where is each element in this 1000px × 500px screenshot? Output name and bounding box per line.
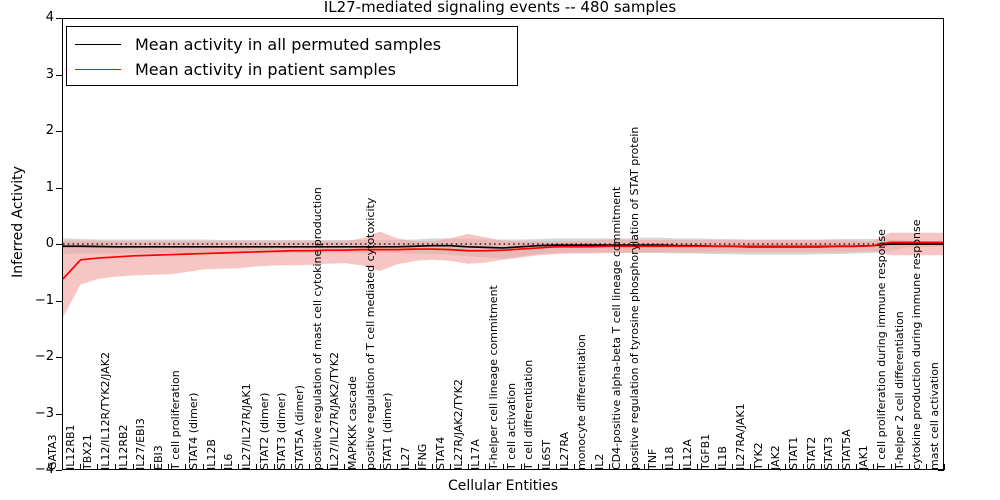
x-tick-label: positive regulation of mast cell cytokin… bbox=[312, 187, 323, 470]
x-tick-label: T-helper cell lineage commitment bbox=[488, 285, 499, 470]
x-tick-label: MAPKKK cascade bbox=[347, 376, 358, 470]
x-tick-mark bbox=[432, 464, 433, 470]
x-tick-label: IL27RA bbox=[559, 432, 570, 470]
y-tick-label: −1 bbox=[14, 293, 54, 308]
x-tick-label: STAT3 (dimer) bbox=[276, 393, 287, 470]
x-tick-mark bbox=[591, 464, 592, 470]
x-tick-label: STAT2 bbox=[806, 437, 817, 470]
x-tick-label: IL12B bbox=[206, 439, 217, 470]
x-tick-mark bbox=[609, 464, 610, 470]
x-tick-label: JAK2 bbox=[770, 445, 781, 470]
x-tick-label: IL12RB2 bbox=[118, 424, 129, 470]
x-tick-mark bbox=[750, 464, 751, 470]
x-tick-label: STAT3 bbox=[823, 437, 834, 470]
x-tick-label: positive regulation of tyrosine phosphor… bbox=[629, 127, 640, 470]
x-tick-mark bbox=[909, 464, 910, 470]
x-tick-mark bbox=[785, 464, 786, 470]
x-tick-label: CD4-positive alpha-beta T cell lineage c… bbox=[611, 187, 622, 470]
x-tick-mark bbox=[732, 464, 733, 470]
x-tick-mark bbox=[468, 464, 469, 470]
legend-swatch-permuted bbox=[75, 44, 121, 45]
chart-title: IL27-mediated signaling events -- 480 sa… bbox=[0, 0, 1000, 16]
x-tick-mark bbox=[856, 464, 857, 470]
x-tick-label: mast cell activation bbox=[929, 362, 940, 470]
x-tick-mark bbox=[274, 464, 275, 470]
y-tick-label: 4 bbox=[14, 10, 54, 25]
x-tick-label: STAT5A bbox=[841, 429, 852, 470]
x-tick-mark bbox=[397, 464, 398, 470]
x-tick-label: IL12A bbox=[682, 439, 693, 470]
x-tick-mark bbox=[679, 464, 680, 470]
x-tick-label: cytokine production during immune respon… bbox=[911, 220, 922, 470]
y-tick-label: 2 bbox=[14, 123, 54, 138]
x-tick-mark bbox=[450, 464, 451, 470]
x-tick-mark bbox=[133, 464, 134, 470]
legend-label-permuted: Mean activity in all permuted samples bbox=[135, 35, 441, 54]
x-tick-label: IL12/IL12R/TYK2/JAK2 bbox=[100, 352, 111, 470]
x-tick-label: GATA3 bbox=[47, 434, 58, 470]
x-tick-label: IFNG bbox=[417, 444, 428, 470]
x-tick-mark bbox=[838, 464, 839, 470]
x-tick-label: STAT5A (dimer) bbox=[294, 385, 305, 470]
x-tick-mark bbox=[538, 464, 539, 470]
y-tick-mark bbox=[56, 470, 62, 471]
x-tick-label: IL2 bbox=[594, 454, 605, 470]
legend: Mean activity in all permuted samples Me… bbox=[66, 26, 518, 86]
x-tick-mark bbox=[873, 464, 874, 470]
x-tick-mark bbox=[574, 464, 575, 470]
x-axis-label: Cellular Entities bbox=[62, 478, 944, 494]
x-tick-mark bbox=[327, 464, 328, 470]
x-tick-mark bbox=[768, 464, 769, 470]
y-tick-label: −2 bbox=[14, 349, 54, 364]
x-tick-label: STAT2 (dimer) bbox=[259, 393, 270, 470]
x-tick-mark bbox=[256, 464, 257, 470]
legend-label-patient: Mean activity in patient samples bbox=[135, 60, 396, 79]
y-tick-label: 0 bbox=[14, 236, 54, 251]
x-tick-mark bbox=[626, 464, 627, 470]
x-tick-label: IL27/IL27R/JAK2/TYK2 bbox=[329, 352, 340, 470]
x-tick-mark bbox=[803, 464, 804, 470]
x-tick-mark bbox=[715, 464, 716, 470]
x-tick-mark bbox=[150, 464, 151, 470]
x-tick-mark bbox=[62, 464, 63, 470]
x-tick-mark bbox=[415, 464, 416, 470]
x-tick-label: IL17A bbox=[470, 439, 481, 470]
x-tick-label: T cell proliferation bbox=[170, 370, 181, 470]
x-tick-mark bbox=[944, 464, 945, 470]
x-tick-mark bbox=[503, 464, 504, 470]
figure: IL27-mediated signaling events -- 480 sa… bbox=[0, 0, 1000, 500]
x-tick-label: IL1B bbox=[717, 446, 728, 470]
x-tick-mark bbox=[97, 464, 98, 470]
x-tick-mark bbox=[644, 464, 645, 470]
x-tick-label: STAT1 bbox=[788, 437, 799, 470]
x-tick-mark bbox=[168, 464, 169, 470]
x-tick-mark bbox=[380, 464, 381, 470]
x-tick-label: T cell proliferation during immune respo… bbox=[876, 229, 887, 470]
x-tick-label: EBI3 bbox=[153, 445, 164, 470]
x-tick-mark bbox=[203, 464, 204, 470]
x-tick-mark bbox=[221, 464, 222, 470]
x-tick-mark bbox=[309, 464, 310, 470]
x-tick-label: TBX21 bbox=[82, 434, 93, 470]
y-tick-label: −3 bbox=[14, 406, 54, 421]
x-tick-label: JAK1 bbox=[858, 445, 869, 470]
y-tick-label: 3 bbox=[14, 67, 54, 82]
x-tick-mark bbox=[238, 464, 239, 470]
x-tick-label: IL27R/JAK2/TYK2 bbox=[453, 379, 464, 470]
x-tick-label: STAT1 (dimer) bbox=[382, 393, 393, 470]
x-tick-label: IL27RA/JAK1 bbox=[735, 403, 746, 470]
x-tick-mark bbox=[556, 464, 557, 470]
x-tick-label: monocyte differentiation bbox=[576, 334, 587, 470]
x-tick-mark bbox=[697, 464, 698, 470]
x-tick-label: T-helper 2 cell differentiation bbox=[894, 311, 905, 470]
x-tick-label: IL18 bbox=[664, 447, 675, 470]
x-tick-label: STAT4 (dimer) bbox=[188, 393, 199, 470]
legend-item: Mean activity in all permuted samples bbox=[75, 32, 509, 57]
x-tick-mark bbox=[891, 464, 892, 470]
x-tick-label: STAT4 bbox=[435, 437, 446, 470]
x-tick-label: T cell activation bbox=[506, 383, 517, 470]
x-tick-label: IL27/EBI3 bbox=[135, 418, 146, 470]
x-tick-label: IL27/IL27R/JAK1 bbox=[241, 383, 252, 470]
x-tick-label: IL12RB1 bbox=[65, 424, 76, 470]
y-tick-label: 1 bbox=[14, 180, 54, 195]
legend-swatch-patient bbox=[75, 69, 121, 70]
x-tick-mark bbox=[485, 464, 486, 470]
legend-item: Mean activity in patient samples bbox=[75, 57, 509, 82]
x-tick-label: T cell differentiation bbox=[523, 360, 534, 470]
x-tick-mark bbox=[821, 464, 822, 470]
x-tick-mark bbox=[662, 464, 663, 470]
x-tick-mark bbox=[362, 464, 363, 470]
x-tick-label: TYK2 bbox=[753, 442, 764, 470]
x-tick-mark bbox=[521, 464, 522, 470]
x-tick-label: IL6ST bbox=[541, 440, 552, 470]
x-tick-mark bbox=[344, 464, 345, 470]
x-tick-mark bbox=[291, 464, 292, 470]
x-tick-label: TNF bbox=[647, 449, 658, 470]
x-tick-mark bbox=[926, 464, 927, 470]
x-tick-mark bbox=[185, 464, 186, 470]
x-tick-mark bbox=[115, 464, 116, 470]
x-tick-label: IL27 bbox=[400, 447, 411, 470]
x-tick-label: positive regulation of T cell mediated c… bbox=[365, 198, 376, 470]
x-tick-label: IL6 bbox=[223, 454, 234, 470]
y-tick-mark bbox=[938, 470, 944, 471]
x-tick-label: TGFB1 bbox=[700, 434, 711, 470]
x-tick-mark bbox=[80, 464, 81, 470]
